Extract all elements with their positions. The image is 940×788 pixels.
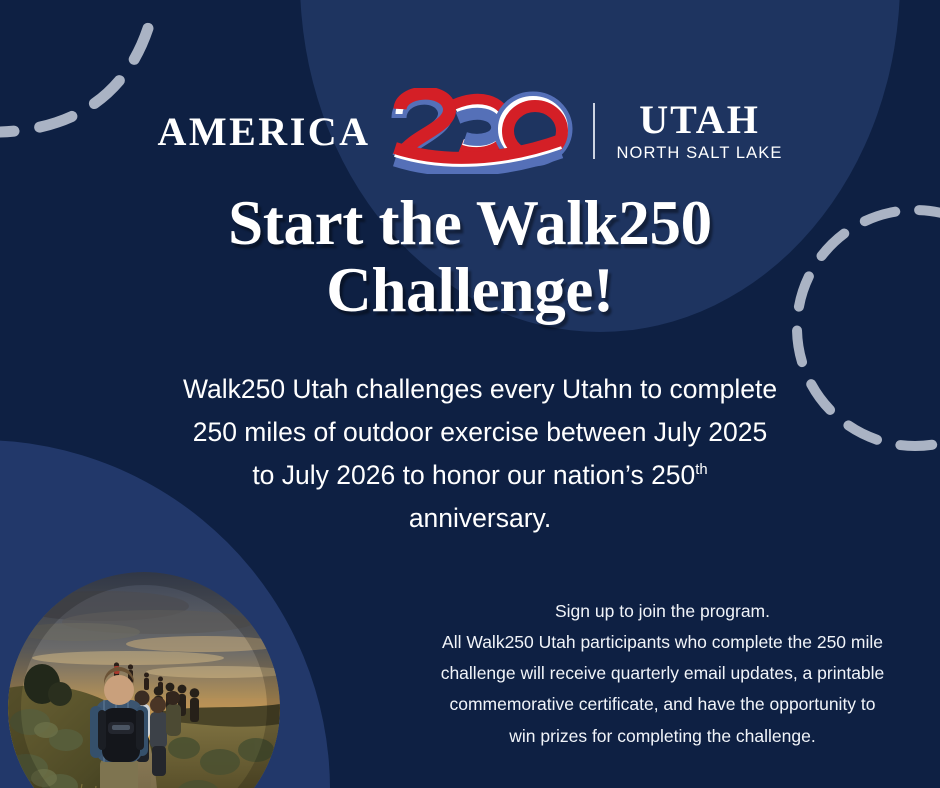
logo-divider: [593, 103, 595, 159]
hikers-photo-illustration: [8, 572, 280, 788]
page-title-line-1: Start the Walk250: [90, 190, 850, 257]
logo-lockup: AMERICA: [0, 88, 940, 174]
details-line: All Walk250 Utah participants who comple…: [400, 627, 925, 658]
page-title: Start the Walk250 Challenge!: [0, 190, 940, 324]
details-line: Sign up to join the program.: [400, 596, 925, 627]
logo-city-label: NORTH SALT LAKE: [617, 145, 783, 162]
logo-region-lockup: UTAH NORTH SALT LAKE: [617, 100, 783, 162]
hikers-photo: [8, 572, 280, 788]
details-line: win prizes for completing the challenge.: [400, 721, 925, 752]
lede-paragraph: Walk250 Utah challenges every Utahn to c…: [180, 368, 780, 540]
poster-canvas: AMERICA: [0, 0, 940, 788]
lede-text-main: Walk250 Utah challenges every Utahn to c…: [183, 374, 777, 490]
logo-250-ribbon-icon: [385, 88, 575, 174]
lede-text-tail: anniversary.: [409, 503, 551, 533]
details-line: commemorative certificate, and have the …: [400, 689, 925, 720]
page-title-line-2: Challenge!: [90, 257, 850, 324]
logo-state-label: UTAH: [639, 100, 760, 140]
details-line: challenge will receive quarterly email u…: [400, 658, 925, 689]
lede-ordinal-suffix: th: [695, 462, 707, 478]
logo-america-wordmark: AMERICA: [157, 112, 370, 152]
details-paragraph: Sign up to join the program. All Walk250…: [400, 596, 925, 752]
